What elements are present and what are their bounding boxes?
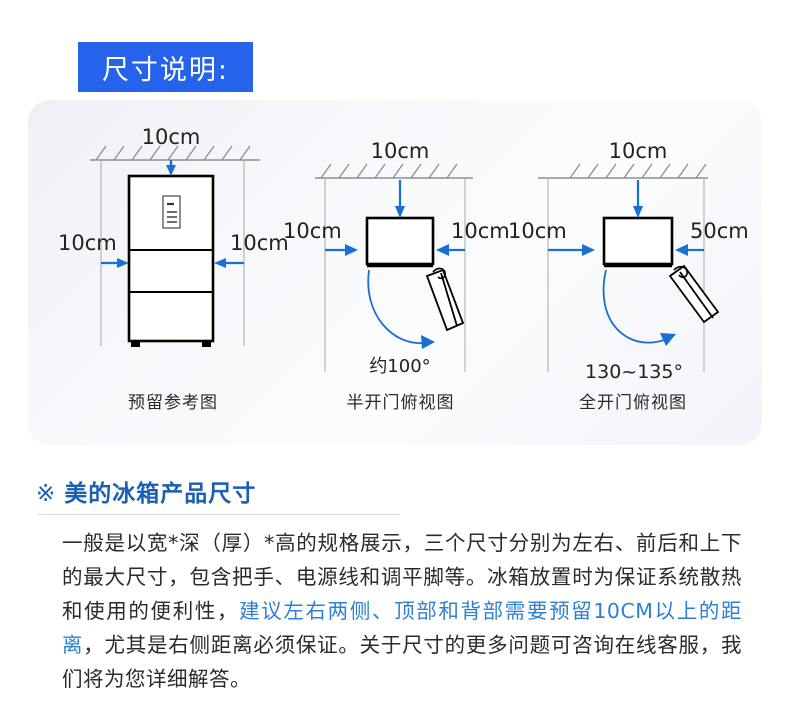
open-door-icon (427, 268, 463, 330)
diagram-full-open-door-caption: 全开门俯视图 (508, 388, 758, 413)
diagram-full-open-door: 10cm 10cm 50cm 130~135° 全开门俯视图 (508, 100, 758, 445)
diagram-reserve-reference-caption: 预留参考图 (48, 388, 298, 413)
size-description-badge: 尺寸说明: (78, 42, 253, 92)
control-panel-icon (163, 196, 180, 228)
open-door-icon (670, 266, 718, 322)
label-top: 10cm (371, 139, 430, 163)
door-swing-arc (604, 270, 676, 346)
product-size-body: 一般是以宽*深（厚）*高的规格展示，三个尺寸分别为左右、前后和上下的最大尺寸，包… (62, 526, 742, 696)
size-description-badge-label: 尺寸说明: (102, 48, 229, 87)
wall-hatching-icon (538, 164, 708, 178)
reference-mark-icon: ※ (36, 481, 56, 507)
diagram-half-open-door-caption: 半开门俯视图 (283, 388, 518, 413)
label-right: 10cm (451, 219, 510, 243)
refrigerator-top-icon (367, 218, 433, 266)
label-top: 10cm (142, 125, 201, 149)
label-left: 10cm (58, 231, 117, 255)
diagram-half-open-door: 10cm 10cm 10cm 约100° 半开门俯视图 (283, 100, 518, 445)
diagram-reserve-reference: 10cm 10cm 10cm 预留参考图 (48, 100, 298, 445)
product-size-heading: ※美的冰箱产品尺寸 (36, 474, 256, 508)
label-right: 10cm (230, 231, 289, 255)
label-left: 10cm (283, 219, 342, 243)
label-top: 10cm (609, 139, 668, 163)
heading-divider (38, 514, 400, 515)
wall-hatching-icon (315, 164, 473, 178)
body-text-part2: ，尤其是右侧距离必须保证。关于尺寸的更多问题可咨询在线客服，我们将为您详细解答。 (62, 633, 742, 691)
label-right: 50cm (690, 219, 749, 243)
label-angle: 130~135° (585, 361, 683, 383)
door-swing-arc (368, 270, 435, 349)
diagram-panel: 10cm 10cm 10cm 预留参考图 (28, 100, 762, 445)
label-angle: 约100° (369, 356, 430, 377)
product-size-heading-text: 美的冰箱产品尺寸 (64, 481, 256, 507)
refrigerator-top-icon (604, 218, 672, 266)
label-left: 10cm (508, 219, 567, 243)
